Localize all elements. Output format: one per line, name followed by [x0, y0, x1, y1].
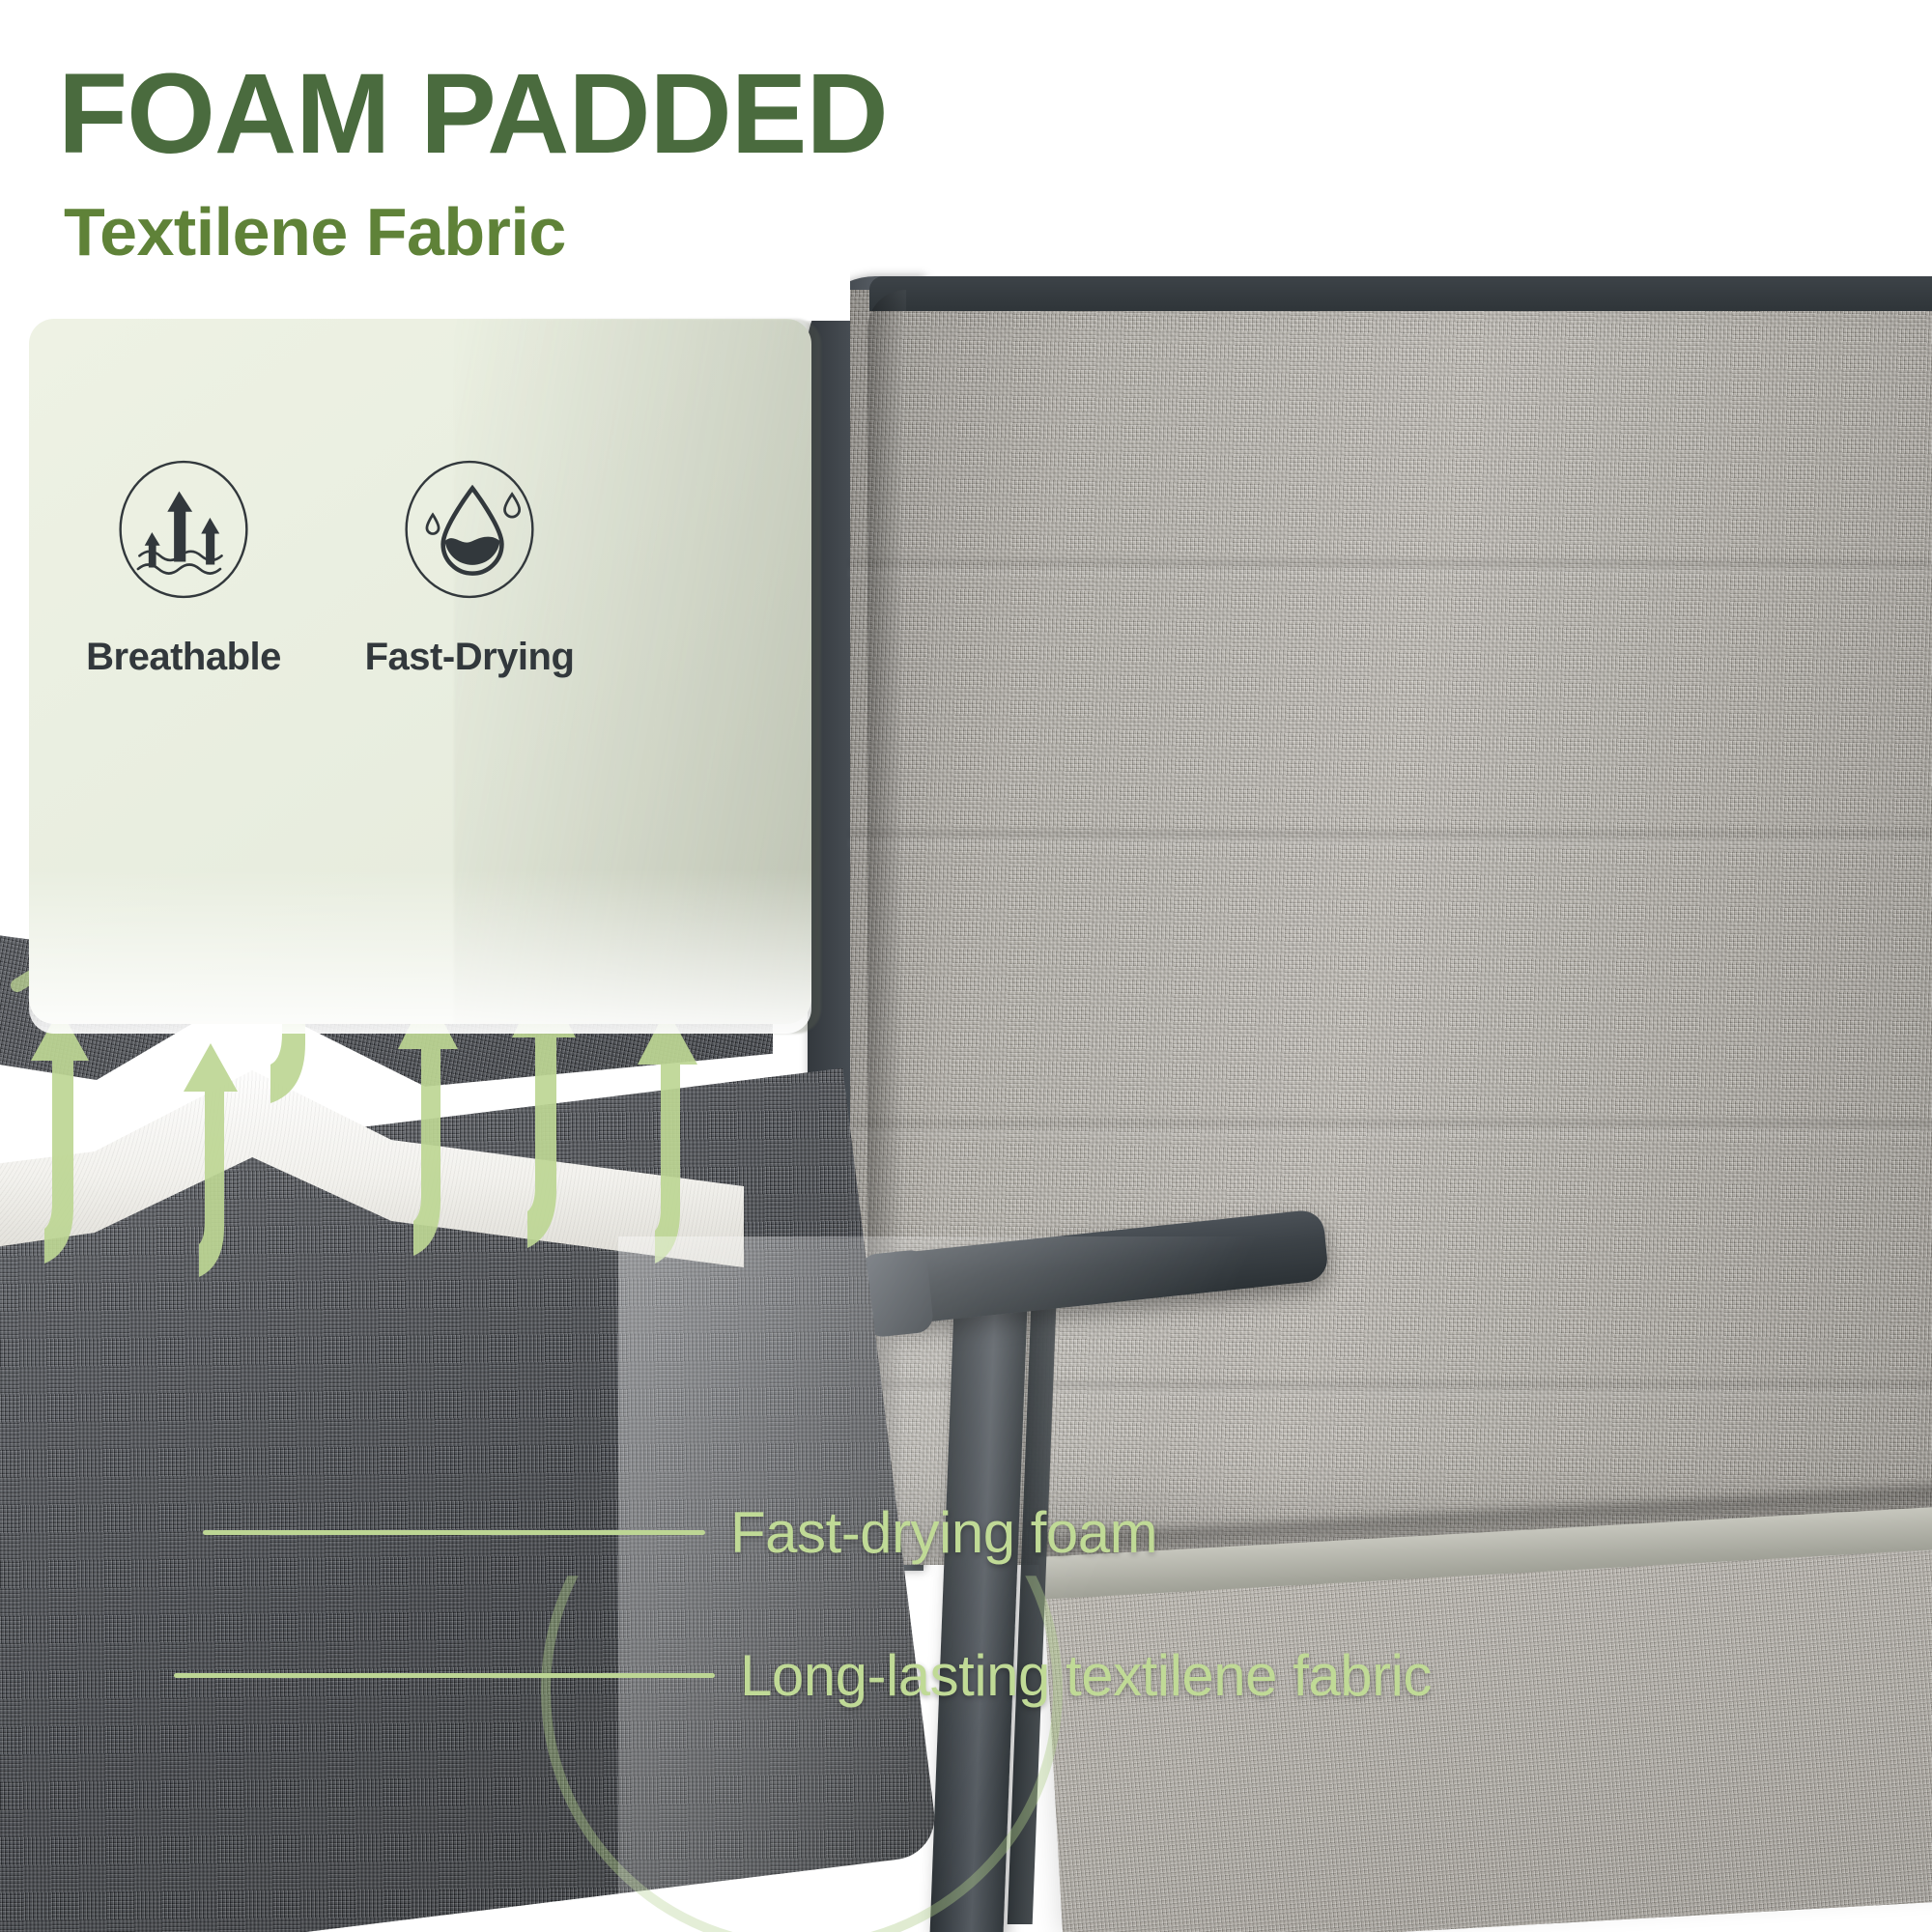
callout-fast-drying-foam: Fast-drying foam — [203, 1499, 1157, 1566]
callout-label: Fast-drying foam — [730, 1499, 1157, 1566]
breathable-arrows-icon — [110, 456, 257, 603]
feature-badge-fast-drying: Fast-Drying — [392, 456, 547, 679]
product-feature-graphic: FOAM PADDED Textilene Fabric Breathable — [0, 0, 1932, 1932]
page-subtitle: Textilene Fabric — [64, 197, 566, 269]
feature-badge-list: Breathable Fast-Drying — [106, 456, 547, 679]
water-droplet-icon — [396, 456, 543, 603]
page-title: FOAM PADDED — [58, 56, 888, 172]
feature-badge-label: Breathable — [86, 636, 281, 679]
callout-label: Long-lasting textilene fabric — [740, 1642, 1432, 1709]
chair-frame-top — [869, 276, 1932, 311]
callout-leader-line — [203, 1530, 705, 1535]
feature-badge-label: Fast-Drying — [365, 636, 575, 679]
callout-leader-line — [174, 1673, 715, 1678]
feature-badge-breathable: Breathable — [106, 456, 261, 679]
callout-long-lasting-fabric: Long-lasting textilene fabric — [174, 1642, 1432, 1709]
feature-panel-fade — [29, 869, 811, 1034]
